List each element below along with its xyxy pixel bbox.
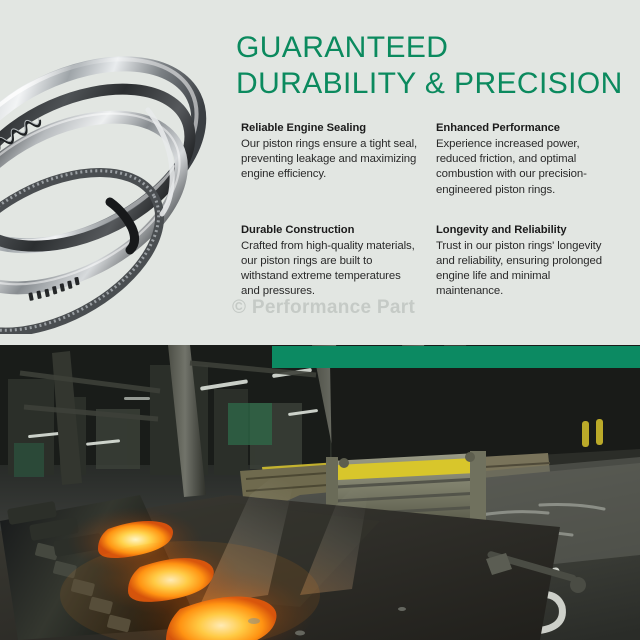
- feature-title: Enhanced Performance: [436, 121, 617, 136]
- top-content-section: GUARANTEED DURABILITY & PRECISION Reliab…: [0, 0, 640, 346]
- factory-photo: [0, 345, 640, 640]
- feature-row-1: Reliable Engine Sealing Our piston rings…: [241, 121, 631, 198]
- headline-line-1: GUARANTEED: [236, 30, 636, 66]
- feature-title: Longevity and Reliability: [436, 223, 617, 238]
- green-accent-bar: [272, 346, 640, 368]
- feature-body: Experience increased power, reduced fric…: [436, 137, 617, 198]
- headline-line-2: DURABILITY & PRECISION: [236, 66, 636, 102]
- feature-enhanced-performance: Enhanced Performance Experience increase…: [436, 121, 631, 198]
- feature-longevity-and-reliability: Longevity and Reliability Trust in our p…: [436, 223, 631, 300]
- feature-title: Durable Construction: [241, 223, 422, 238]
- copyright-watermark: © Performance Part: [232, 297, 415, 319]
- feature-body: Our piston rings ensure a tight seal, pr…: [241, 137, 422, 183]
- feature-title: Reliable Engine Sealing: [241, 121, 422, 136]
- headline: GUARANTEED DURABILITY & PRECISION: [236, 30, 636, 102]
- feature-grid: Reliable Engine Sealing Our piston rings…: [241, 121, 631, 300]
- product-feature-poster: GUARANTEED DURABILITY & PRECISION Reliab…: [0, 0, 640, 640]
- feature-body: Crafted from high-quality materials, our…: [241, 239, 422, 300]
- feature-row-2: Durable Construction Crafted from high-q…: [241, 223, 631, 300]
- feature-durable-construction: Durable Construction Crafted from high-q…: [241, 223, 436, 300]
- piston-ring-product-image: [0, 14, 242, 334]
- feature-reliable-engine-sealing: Reliable Engine Sealing Our piston rings…: [241, 121, 436, 198]
- feature-body: Trust in our piston rings' longevity and…: [436, 239, 617, 300]
